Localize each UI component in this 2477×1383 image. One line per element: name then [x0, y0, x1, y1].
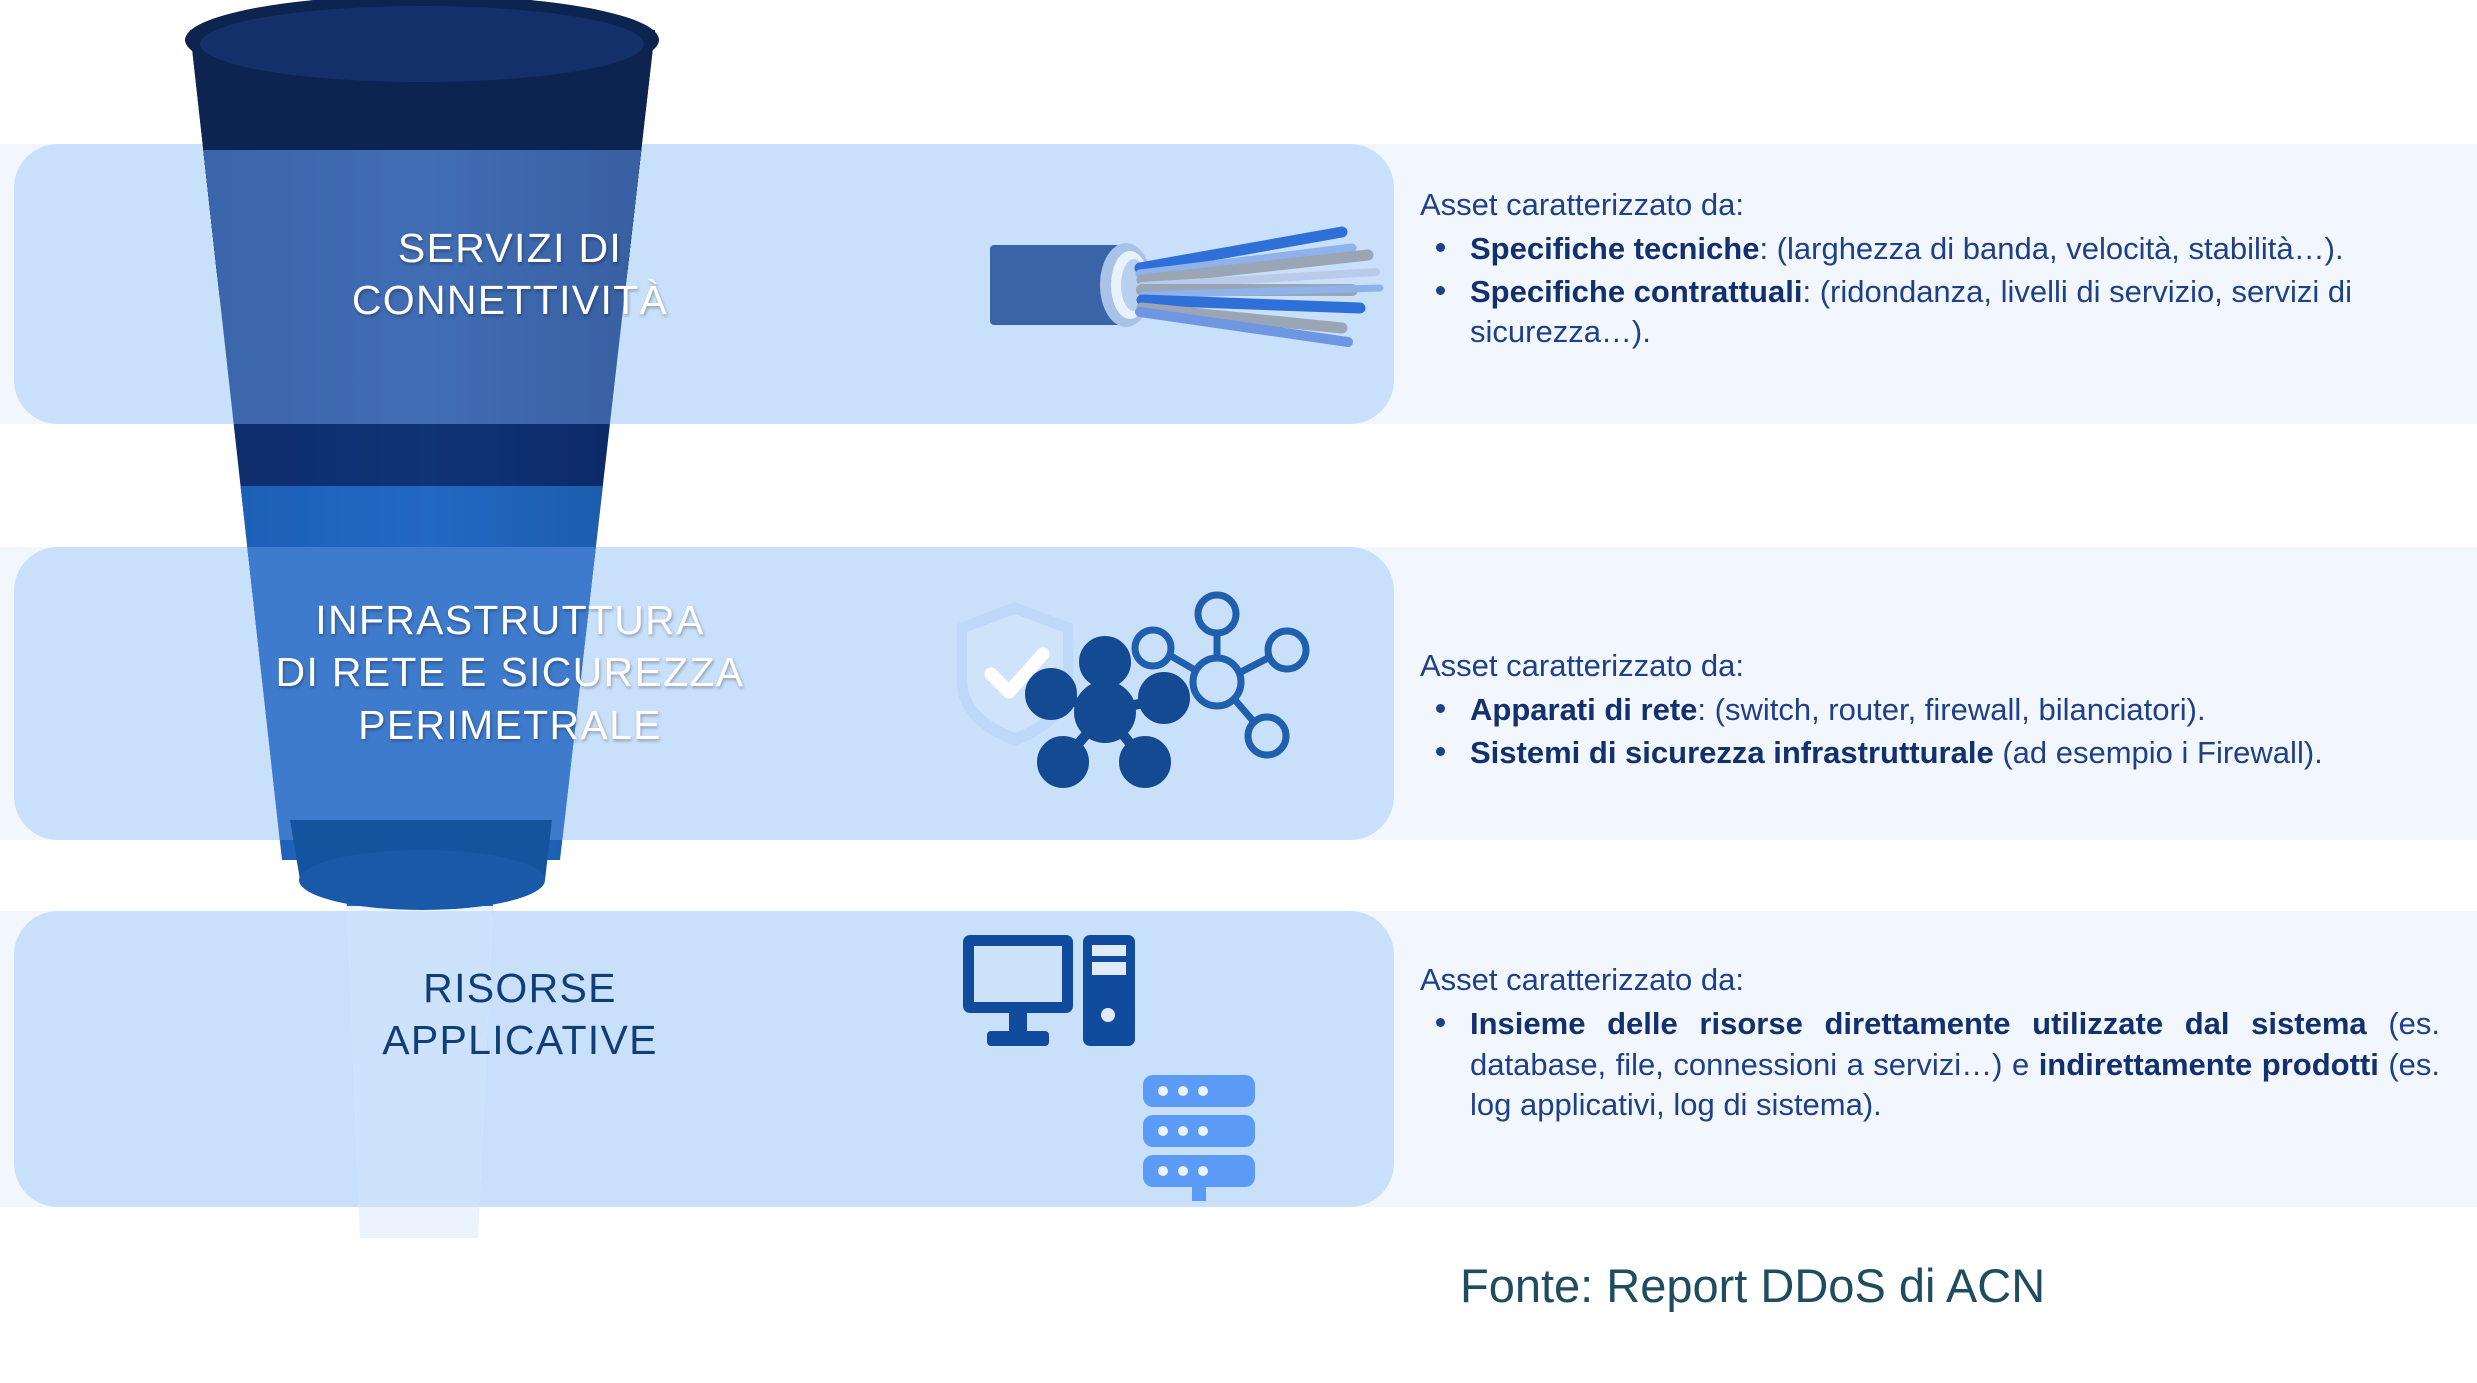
funnel-label-connettivita: SERVIZI DI CONNETTIVITÀ	[230, 222, 790, 327]
description-lead: Asset caratterizzato da:	[1420, 646, 2440, 686]
bullet-dot-icon	[1436, 704, 1445, 713]
bullet-bold: Insieme delle risorse direttamente utili…	[1470, 1006, 2367, 1041]
bullet-list: Apparati di rete: (switch, router, firew…	[1420, 690, 2440, 773]
funnel-bowl-ellipse	[299, 850, 545, 910]
funnel-label-line: APPLICATIVE	[330, 1014, 710, 1066]
diagram-canvas: SERVIZI DI CONNETTIVITÀ INFRASTRUTTURA D…	[0, 0, 2477, 1383]
funnel-label-line: CONNETTIVITÀ	[230, 274, 790, 326]
bullet-dot-icon	[1436, 243, 1445, 252]
bullet-bold: Specifiche tecniche	[1470, 231, 1759, 266]
bullet-bold: Specifiche contrattuali	[1470, 274, 1802, 309]
bullet-bold: Apparati di rete	[1470, 692, 1697, 727]
description-lead: Asset caratterizzato da:	[1420, 185, 2440, 225]
list-item: Specifiche tecniche: (larghezza di banda…	[1420, 229, 2440, 269]
server-rack-icon	[1143, 1075, 1255, 1201]
desktop-server-icon	[935, 915, 1335, 1205]
bullet-list: Insieme delle risorse direttamente utili…	[1420, 1004, 2440, 1125]
funnel-label-risorse: RISORSE APPLICATIVE	[330, 962, 710, 1067]
monitor-icon	[963, 935, 1073, 1046]
bullet-bold-2: indirettamente prodotti	[2039, 1047, 2379, 1082]
bullet-bold: Sistemi di sicurezza infrastrutturale	[1470, 735, 1994, 770]
list-item: Insieme delle risorse direttamente utili…	[1420, 1004, 2440, 1125]
description-infrastruttura: Asset caratterizzato da: Apparati di ret…	[1420, 646, 2440, 775]
list-item: Sistemi di sicurezza infrastrutturale (a…	[1420, 733, 2440, 773]
funnel-label-line: SERVIZI DI	[230, 222, 790, 274]
funnel-label-line: RISORSE	[330, 962, 710, 1014]
bullet-rest: : (switch, router, firewall, bilanciator…	[1697, 692, 2205, 727]
bullet-list: Specifiche tecniche: (larghezza di banda…	[1420, 229, 2440, 352]
bullet-rest: (ad esempio i Firewall).	[1994, 735, 2323, 770]
list-item: Apparati di rete: (switch, router, firew…	[1420, 690, 2440, 730]
funnel-label-line: PERIMETRALE	[210, 699, 810, 751]
description-connettivita: Asset caratterizzato da: Specifiche tecn…	[1420, 185, 2440, 354]
tower-pc-icon	[1083, 935, 1135, 1046]
bullet-dot-icon	[1436, 1018, 1445, 1027]
description-risorse: Asset caratterizzato da: Insieme delle r…	[1420, 960, 2440, 1127]
fiber-optic-cable-icon	[990, 200, 1390, 370]
bullet-rest: : (larghezza di banda, velocità, stabili…	[1759, 231, 2343, 266]
funnel-rim-inner	[200, 6, 644, 82]
funnel-label-line: INFRASTRUTTURA	[210, 594, 810, 646]
funnel-label-line: DI RETE E SICUREZZA	[210, 646, 810, 698]
source-caption: Fonte: Report DDoS di ACN	[1460, 1258, 2045, 1313]
funnel-label-infrastruttura: INFRASTRUTTURA DI RETE E SICUREZZA PERIM…	[210, 594, 810, 751]
bullet-dot-icon	[1436, 747, 1445, 756]
bullet-dot-icon	[1436, 286, 1445, 295]
description-lead: Asset caratterizzato da:	[1420, 960, 2440, 1000]
shield-check-network-icon	[955, 590, 1335, 810]
list-item: Specifiche contrattuali: (ridondanza, li…	[1420, 272, 2440, 353]
